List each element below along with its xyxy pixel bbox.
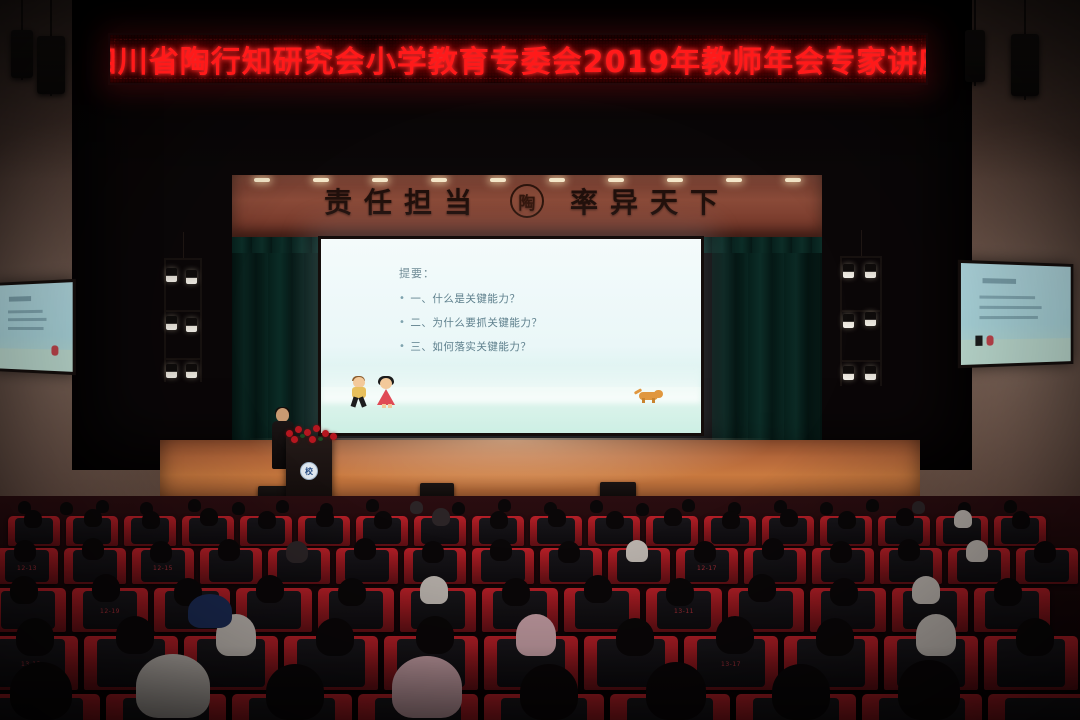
audience-member — [780, 509, 798, 527]
seat-number-plate: 12-17 — [697, 565, 717, 572]
audience-member — [150, 541, 172, 563]
led-banner: 四川省陶行知研究会小学教育专委会2019年教师年会专家讲座 — [108, 33, 928, 85]
truss-rail — [164, 310, 201, 312]
audience-member — [84, 509, 102, 527]
stage-lamp — [186, 270, 197, 284]
school-emblem-icon: 陶 — [510, 184, 544, 218]
audience-member — [490, 539, 512, 561]
audience-member — [558, 541, 580, 563]
audience-member — [432, 508, 450, 526]
audience-member — [452, 502, 465, 515]
flower — [313, 425, 320, 432]
audience-member — [820, 502, 833, 515]
audience-member — [830, 541, 852, 563]
truss-wire — [183, 232, 184, 258]
stage-lamp — [843, 264, 854, 278]
audience-member — [502, 578, 530, 606]
audience-member — [898, 539, 920, 561]
audience-member — [838, 511, 856, 529]
girl-dress — [377, 389, 395, 405]
audience-member — [722, 511, 740, 529]
audience-member — [200, 508, 218, 526]
audience-depth-shade — [0, 646, 1080, 720]
stage-lamp — [166, 316, 177, 330]
audience-member — [422, 541, 444, 563]
right-side-monitor — [958, 260, 1074, 368]
monitor-slide-ground — [0, 348, 73, 371]
monitor-slide-line — [980, 306, 1042, 309]
stage-lamp — [865, 366, 876, 380]
monitor-cartoon-figure — [987, 336, 994, 346]
audience-member — [142, 511, 160, 529]
monitor-slide-line — [8, 310, 42, 314]
audience-member — [748, 574, 776, 602]
audience-member — [420, 576, 448, 604]
audience-member — [664, 508, 682, 526]
audience-member — [954, 510, 972, 528]
slide-bullet-list: 一、什么是关键能力？ 二、为什么要抓关键能力？ 三、如何落实关键能力？ — [399, 291, 542, 354]
girl-leg — [388, 404, 392, 408]
slide-title: 提要： — [399, 265, 435, 281]
audience-member — [188, 594, 232, 628]
audience-member — [866, 499, 879, 512]
cartoon-boy-icon — [349, 377, 371, 407]
truss-rail — [200, 258, 202, 382]
audience-member — [1012, 511, 1030, 529]
slide-bullet-2: 二、为什么要抓关键能力？ — [399, 315, 542, 330]
flower-leaf — [300, 434, 305, 438]
audience-member — [994, 578, 1022, 606]
audience-area: 12-13 12-15 12-17 — [0, 496, 1080, 720]
audience-member — [682, 499, 695, 512]
slide-bullet-1: 一、什么是关键能力？ — [399, 291, 542, 306]
stage-lamp — [186, 364, 197, 378]
seat-number-plate: 13-11 — [674, 608, 694, 615]
speaker-box — [37, 36, 65, 94]
audience-member — [548, 509, 566, 527]
monitor-slide-line — [8, 318, 47, 321]
audience-member — [410, 501, 423, 514]
monitor-slide-line — [8, 327, 44, 330]
flower — [309, 436, 316, 443]
seat-number-plate: 12-15 — [153, 565, 173, 572]
projection-screen-frame: 提要： 一、什么是关键能力？ 二、为什么要抓关键能力？ 三、如何落实关键能力？ — [318, 236, 704, 436]
speaker-box — [965, 30, 985, 82]
stage-lamp — [166, 268, 177, 282]
stage-lamp — [865, 264, 876, 278]
audience-member — [374, 511, 392, 529]
audience-member — [258, 511, 276, 529]
audience-member — [92, 574, 120, 602]
right-monitor-screen — [961, 263, 1071, 365]
stage-backdrop-header: 责任担当 陶 率异天下 — [232, 175, 822, 237]
podium: 校 — [286, 436, 332, 502]
flower — [291, 436, 298, 443]
cartoon-girl-icon — [376, 377, 398, 407]
left-side-monitor — [0, 279, 76, 375]
audience-member — [606, 511, 624, 529]
speaker-box — [11, 30, 33, 78]
audience-member — [24, 510, 42, 528]
audience-member — [338, 578, 366, 606]
flower — [330, 433, 337, 440]
truss-rail — [840, 256, 881, 258]
audience-member — [1004, 500, 1017, 513]
dog-head — [654, 390, 663, 398]
audience-member — [354, 538, 376, 560]
monitor-slide-line — [980, 316, 1038, 319]
boy-leg — [358, 396, 366, 407]
podium-flower-arrangement — [282, 424, 340, 444]
truss-rail — [164, 258, 201, 260]
audience-member — [896, 508, 914, 526]
auditorium-scene: 四川省陶行知研究会小学教育专委会2019年教师年会专家讲座 — [0, 0, 1080, 720]
truss-rail — [164, 358, 201, 360]
projection-screen: 提要： 一、什么是关键能力？ 二、为什么要抓关键能力？ 三、如何落实关键能力？ — [321, 239, 701, 433]
audience-member — [218, 539, 240, 561]
audience-member — [584, 575, 612, 603]
audience-member — [666, 578, 694, 606]
audience-member — [366, 499, 379, 512]
audience-member — [498, 499, 511, 512]
seat-number-plate: 12-13 — [17, 565, 37, 572]
stage-lamp — [865, 312, 876, 326]
audience-member — [286, 541, 308, 563]
podium-emblem-icon: 校 — [300, 462, 318, 480]
presenter-head — [276, 408, 289, 422]
speaker-box — [1011, 34, 1039, 96]
audience-member — [626, 540, 648, 562]
girl-head — [380, 378, 392, 389]
hanging-speaker-right-inner — [962, 0, 988, 86]
dog-leg — [642, 398, 645, 403]
right-lighting-truss — [838, 256, 884, 386]
monitor-slide-title — [982, 278, 1016, 284]
truss-wire — [861, 230, 862, 256]
audience-member — [256, 575, 284, 603]
flower — [322, 430, 329, 437]
slide-bullet-3: 三、如何落实关键能力？ — [399, 339, 542, 354]
flower — [295, 426, 302, 433]
audience-member — [966, 540, 988, 562]
backdrop-calligraphy: 责任担当 陶 率异天下 — [232, 181, 822, 221]
audience-member — [912, 576, 940, 604]
audience-member — [82, 538, 104, 560]
flower-leaf — [318, 437, 323, 441]
audience-member — [830, 578, 858, 606]
dog-leg — [652, 398, 655, 403]
audience-member — [912, 501, 925, 514]
left-monitor-screen — [0, 282, 73, 372]
girl-leg — [382, 404, 386, 408]
audience-member — [1034, 541, 1056, 563]
monitor-slide-line — [980, 296, 1036, 300]
audience-member — [188, 499, 201, 512]
audience-member — [636, 503, 649, 516]
audience-member — [14, 540, 36, 562]
truss-rail — [840, 256, 842, 386]
stage-lamp — [186, 318, 197, 332]
audience-member — [316, 509, 334, 527]
seat-number-plate: 12-19 — [100, 608, 120, 615]
truss-rail — [880, 256, 882, 386]
stage-lamp — [843, 366, 854, 380]
monitor-slide-title — [9, 296, 31, 302]
backdrop-text-left: 责任担当 — [324, 181, 484, 221]
led-banner-text: 四川省陶行知研究会小学教育专委会2019年教师年会专家讲座 — [108, 37, 928, 81]
monitor-cartoon-figure — [52, 345, 59, 355]
backdrop-text-right: 率异天下 — [570, 181, 730, 221]
monitor-cartoon-figure — [975, 336, 982, 346]
audience-member — [694, 541, 716, 563]
boy-leg — [351, 396, 359, 407]
audience-member — [590, 500, 603, 513]
hanging-speaker-right — [1008, 0, 1042, 100]
left-lighting-truss — [162, 258, 204, 382]
stage-lamp — [166, 364, 177, 378]
audience-member — [232, 502, 245, 515]
audience-member — [60, 502, 73, 515]
audience-member — [10, 576, 38, 604]
hanging-speaker-left-inner — [8, 0, 36, 80]
audience-member — [276, 500, 289, 513]
hanging-speaker-left — [34, 0, 68, 96]
stage-lamp — [843, 314, 854, 328]
audience-member — [490, 511, 508, 529]
truss-rail — [840, 360, 881, 362]
cartoon-dog-icon — [637, 390, 663, 403]
audience-member — [762, 538, 784, 560]
flower — [304, 429, 311, 436]
